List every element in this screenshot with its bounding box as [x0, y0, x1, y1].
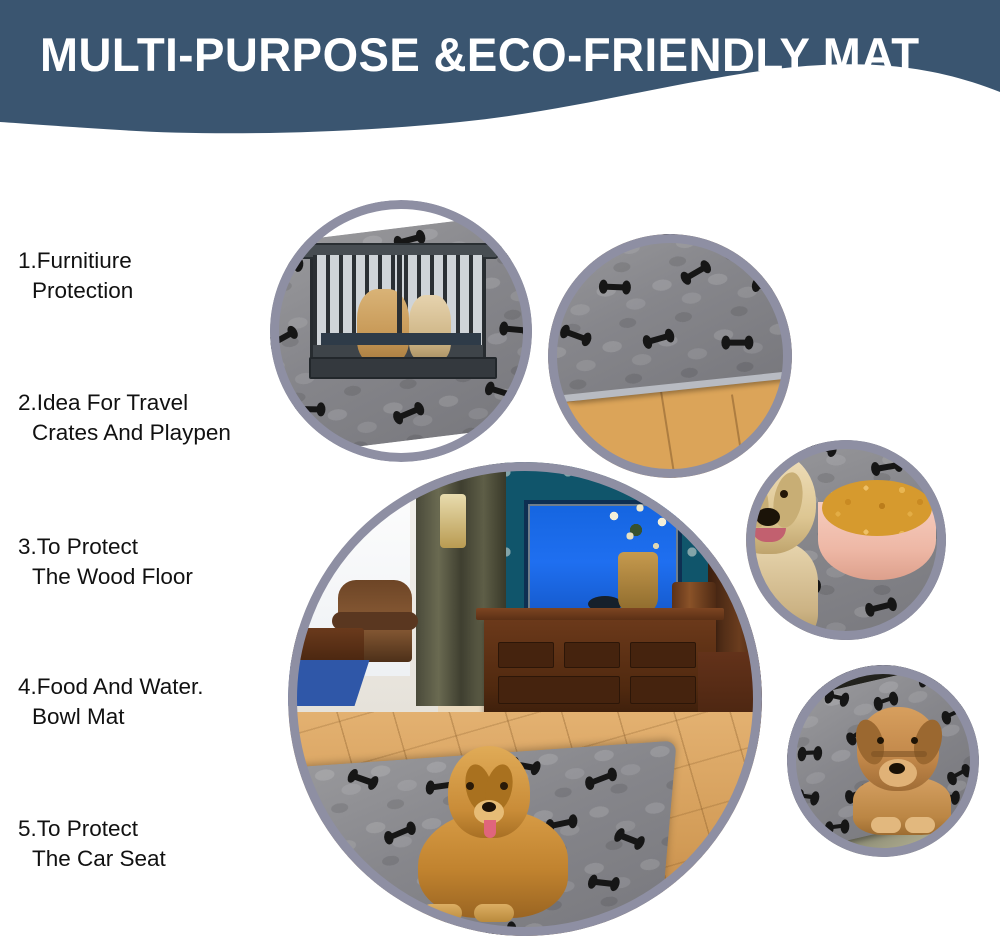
bulldog-puppy: [849, 707, 955, 831]
kibble: [822, 480, 932, 536]
photo-crate-image: [270, 200, 532, 462]
dog-crate: [310, 252, 486, 370]
tv-console: [484, 616, 716, 720]
photo-car-seat-image: [787, 665, 979, 857]
photo-circle-food-bowl: [746, 440, 946, 640]
crate-dog-right: [409, 295, 451, 361]
product-infographic: MULTI-PURPOSE &ECO-FRIENDLY MAT 1.Furnit…: [0, 0, 1000, 946]
mat-surface: [548, 234, 792, 404]
photo-circle-living-room: [288, 462, 762, 936]
photo-circle-car-seat: [787, 665, 979, 857]
photo-living-room-image: [288, 462, 762, 936]
photo-circle-crate: [270, 200, 532, 462]
golden-retriever: [418, 746, 568, 918]
golden-retriever: [746, 450, 832, 640]
photo-food-bowl-image: [746, 440, 946, 640]
photo-circle-cluster: [0, 0, 1000, 946]
